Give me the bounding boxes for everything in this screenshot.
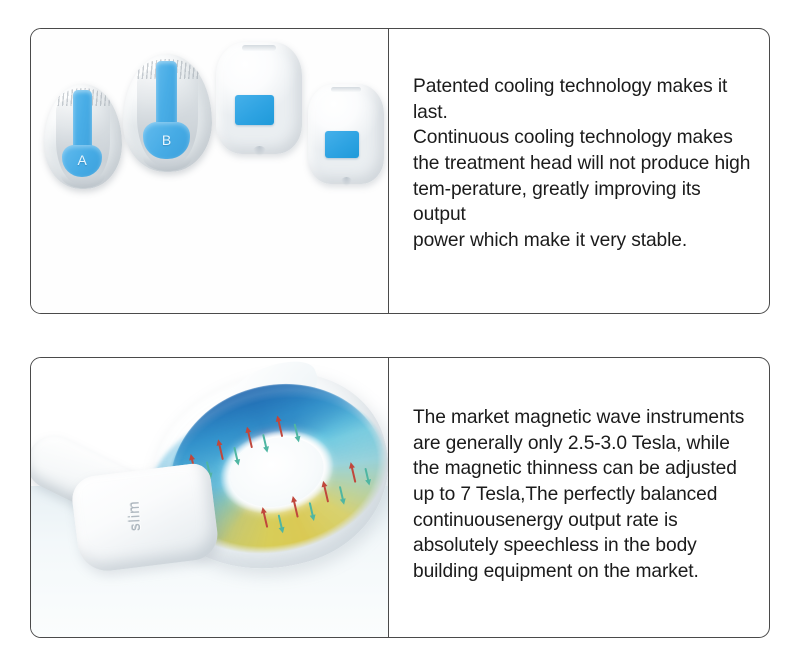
head-d-notch: [341, 177, 352, 186]
head-c-notch: [253, 146, 266, 156]
head-b-label: B: [162, 133, 171, 147]
magnetic-text-cell: The market magnetic wave instruments are…: [389, 358, 769, 637]
cooling-text-cell: Patented cooling technology makes it las…: [389, 29, 769, 313]
product-feature-sheet: A B: [0, 0, 800, 665]
feature-panel-magnetic: slim The market magnetic wave instrument…: [30, 357, 770, 638]
cooling-description: Patented cooling technology makes it las…: [413, 74, 751, 253]
treatment-head-b: B: [123, 54, 212, 172]
device-logo: slim: [125, 490, 151, 531]
treatment-heads-photo: A B: [31, 29, 389, 313]
head-c-blue-window: [235, 95, 274, 125]
head-d-blue-window: [325, 131, 359, 158]
feature-panel-cooling: A B: [30, 28, 770, 314]
head-d-top-slot: [331, 87, 361, 92]
head-a-label: A: [78, 153, 87, 167]
treatment-head-rear-large: [216, 42, 302, 154]
magnetic-field-applicator-photo: slim: [31, 358, 389, 637]
head-c-top-slot: [242, 45, 276, 51]
treatment-head-a: A: [44, 84, 122, 189]
treatment-heads-scene: A B: [31, 29, 388, 313]
treatment-head-rear-small: [308, 84, 384, 184]
magnetic-description: The market magnetic wave instruments are…: [413, 405, 751, 584]
applicator-scene: slim: [31, 358, 388, 637]
applicator-neck: slim: [70, 462, 221, 574]
